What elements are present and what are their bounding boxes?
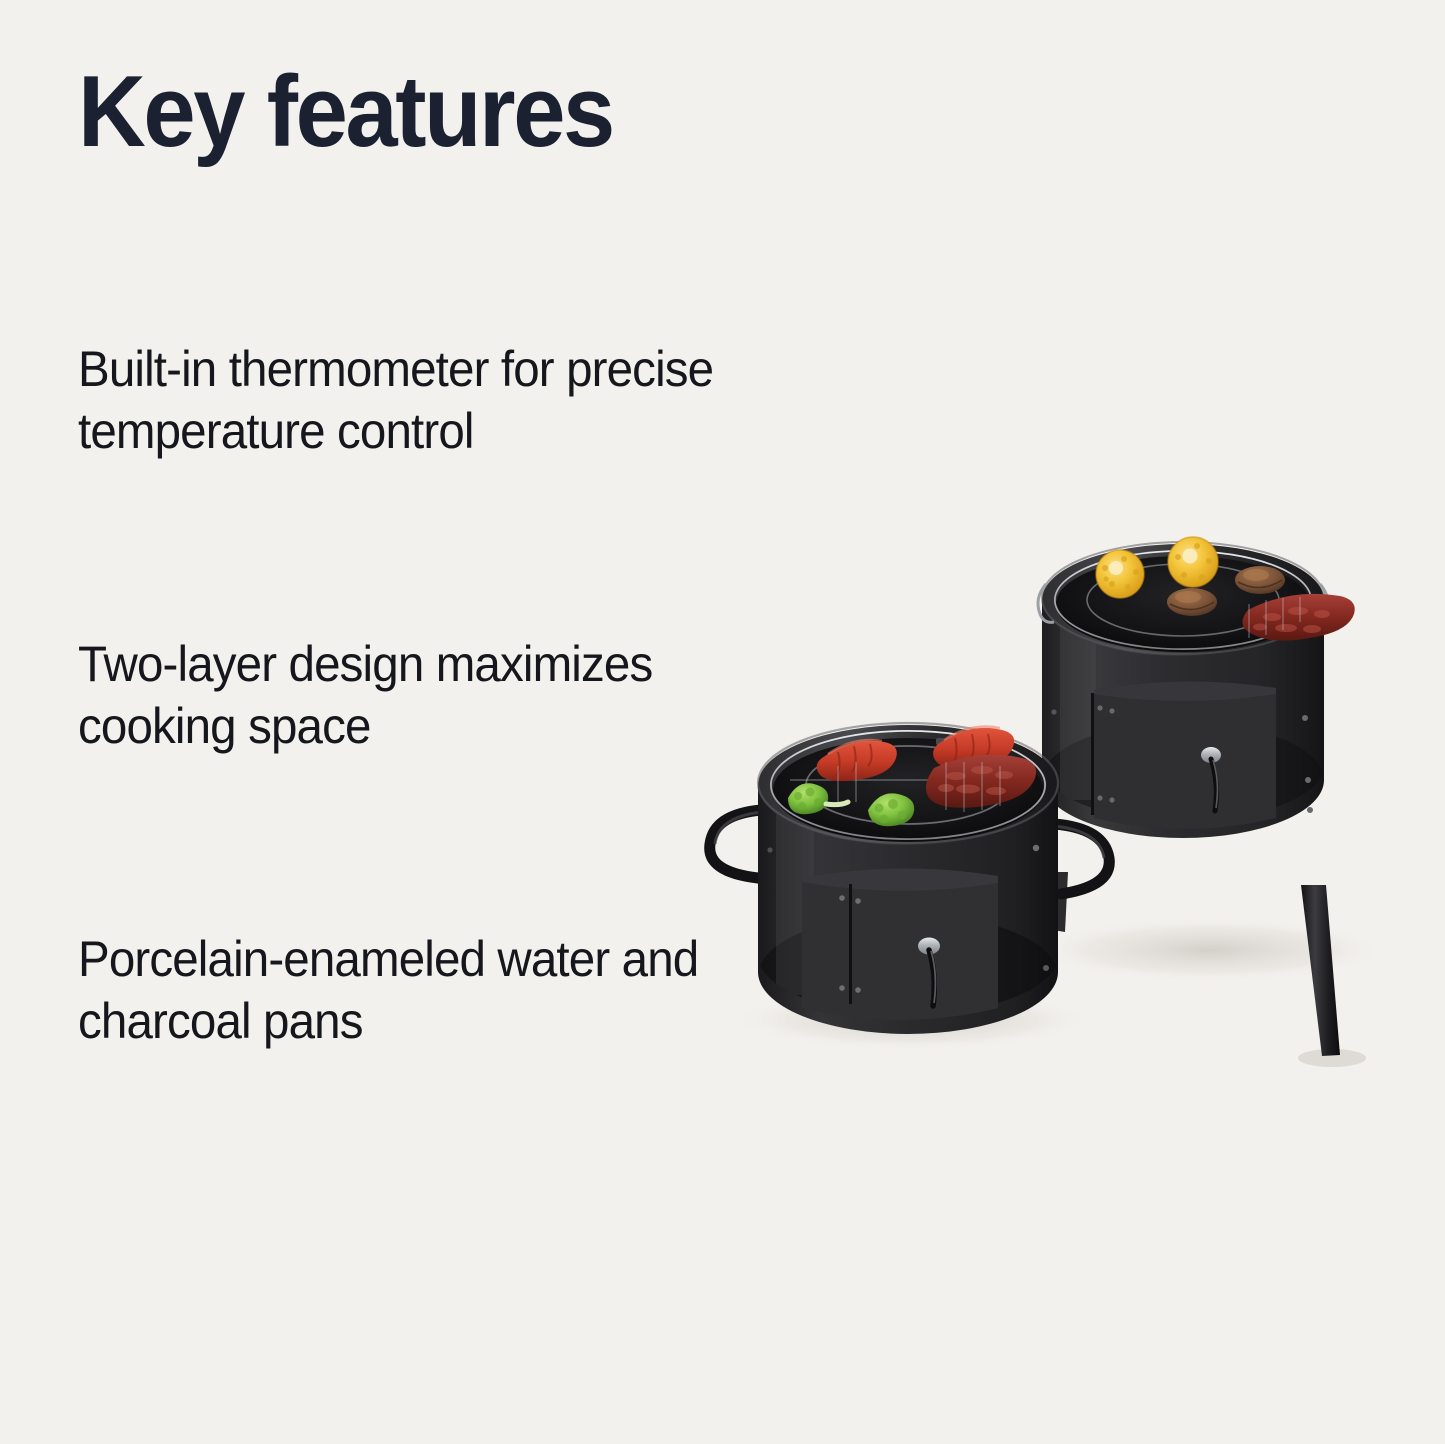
product-image-smoker-grill	[650, 480, 1445, 1080]
front-grill-unit	[710, 723, 1110, 1038]
key-features-panel: Key features Built-in thermometer for pr…	[0, 0, 1445, 1444]
feature-item-1: Built-in thermometer for precise tempera…	[78, 338, 743, 462]
front-handle-left[interactable]	[710, 810, 762, 878]
feature-item-2: Two-layer design maximizes cooking space	[78, 633, 667, 757]
feature-item-3: Porcelain-enameled water and charcoal pa…	[78, 928, 743, 1052]
page-title: Key features	[78, 58, 613, 167]
rear-access-door[interactable]	[1094, 681, 1276, 829]
food-mushroom-1	[1167, 588, 1217, 616]
food-corn-slice-2	[1168, 537, 1218, 587]
food-mushroom-2	[1235, 566, 1285, 594]
front-access-door[interactable]	[802, 868, 998, 1020]
food-corn-slice-1	[1096, 550, 1144, 598]
